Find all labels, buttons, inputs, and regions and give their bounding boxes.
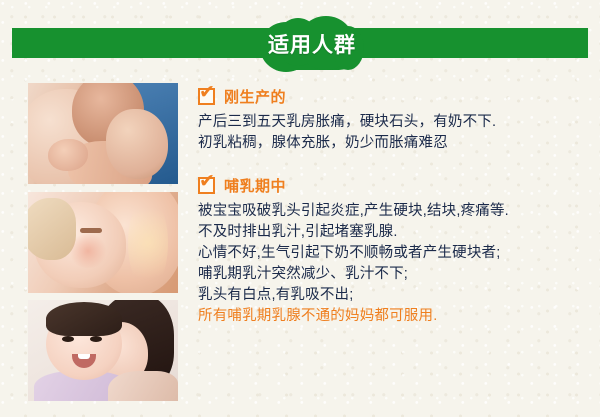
body-line: 乳头有白点,有乳吸不出;	[198, 285, 590, 306]
content-column: ✔ 刚生产的 产后三到五天乳房胀痛，硬块石头，有奶不下. 初乳粘稠，腺体充胀，奶…	[198, 83, 590, 329]
section-lactation-heading: ✔ 哺乳期中	[198, 172, 590, 198]
page-title: 适用人群	[258, 16, 366, 72]
body-line-highlighted: 所有哺乳期乳腺不通的妈妈都可服用.	[198, 306, 590, 327]
body-line: 哺乳期乳汁突然减少、乳汁不下;	[198, 264, 590, 285]
photo1-mother-hand	[106, 109, 168, 179]
body-line: 初乳粘稠，腺体充胀，奶少而胀痛难忍	[198, 133, 590, 154]
photo3-toddler-eye-left	[62, 336, 74, 342]
section-postpartum: ✔ 刚生产的 产后三到五天乳房胀痛，硬块石头，有奶不下. 初乳粘稠，腺体充胀，奶…	[198, 83, 590, 154]
photo3-toddler-eye-right	[90, 336, 102, 342]
orange-checkbox-icon: ✔	[198, 177, 215, 194]
photo2-warm-glow	[128, 196, 168, 290]
photo3-mother-shoulder	[108, 371, 178, 401]
section-postpartum-title: 刚生产的	[224, 86, 286, 107]
body-line: 产后三到五天乳房胀痛，硬块石头，有奶不下.	[198, 112, 590, 133]
photo2-baby-cheek	[68, 234, 108, 268]
body-line: 不及时排出乳汁,引起堵塞乳腺.	[198, 222, 590, 243]
checkmark-icon: ✔	[199, 174, 215, 190]
header-banner: 适用人群	[0, 0, 600, 80]
photo-mother-kissing-toddler	[28, 300, 178, 401]
section-lactation-body: 被宝宝吸破乳头引起炎症,产生硬块,结块,疼痛等. 不及时排出乳汁,引起堵塞乳腺.…	[198, 201, 590, 327]
section-lactation-title: 哺乳期中	[224, 175, 286, 196]
checkmark-icon: ✔	[199, 85, 215, 101]
section-postpartum-body: 产后三到五天乳房胀痛，硬块石头，有奶不下. 初乳粘稠，腺体充胀，奶少而胀痛难忍	[198, 112, 590, 154]
photo3-toddler-teeth	[78, 354, 90, 359]
section-postpartum-heading: ✔ 刚生产的	[198, 83, 590, 109]
body-line: 心情不好,生气引起下奶不顺畅或者产生硬块者;	[198, 243, 590, 264]
photo3-toddler-hair	[46, 302, 122, 336]
section-divider-space	[198, 156, 590, 172]
photo-baby-breastfeeding	[28, 192, 178, 293]
photo-newborn-held-by-mother	[28, 83, 178, 184]
orange-checkbox-icon: ✔	[198, 88, 215, 105]
section-lactation: ✔ 哺乳期中 被宝宝吸破乳头引起炎症,产生硬块,结块,疼痛等. 不及时排出乳汁,…	[198, 172, 590, 327]
photo1-baby-foot	[48, 139, 88, 171]
photo2-baby-eye	[80, 228, 102, 233]
body-line: 被宝宝吸破乳头引起炎症,产生硬块,结块,疼痛等.	[198, 201, 590, 222]
